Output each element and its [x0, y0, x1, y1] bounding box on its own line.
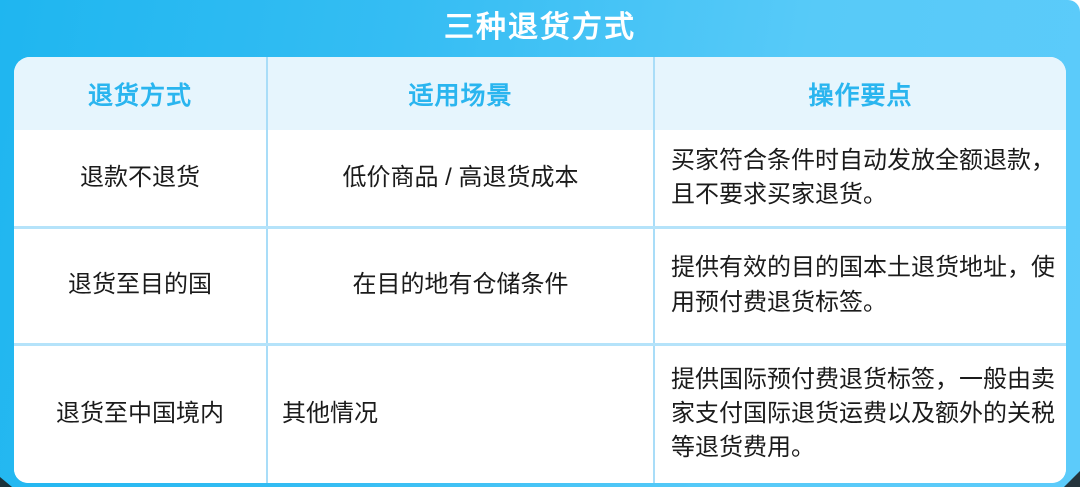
cell-points-1: 买家符合条件时自动发放全额退款，且不要求买家退货。 — [654, 130, 1066, 227]
table-row: 退货至目的国 在目的地有仓储条件 提供有效的目的国本土退货地址，使用预付费退货标… — [14, 227, 1066, 344]
cell-scenario-3: 其他情况 — [267, 344, 654, 483]
page-title: 三种退货方式 — [444, 13, 636, 45]
corner-notch-left — [0, 477, 12, 487]
cell-way-3: 退货至中国境内 — [14, 344, 267, 483]
table-row: 退货至中国境内 其他情况 提供国际预付费退货标签，一般由卖家支付国际退货运费以及… — [14, 344, 1066, 483]
cell-points-3: 提供国际预付费退货标签，一般由卖家支付国际退货运费以及额外的关税等退货费用。 — [654, 344, 1066, 483]
column-header-way: 退货方式 — [14, 57, 267, 130]
table-header-row: 退货方式 适用场景 操作要点 — [14, 57, 1066, 130]
cell-scenario-1: 低价商品 / 高退货成本 — [267, 130, 654, 227]
cell-points-2: 提供有效的目的国本土退货地址，使用预付费退货标签。 — [654, 227, 1066, 344]
return-methods-table-card: 退货方式 适用场景 操作要点 退款不退货 低价商品 / 高退货成本 买家符合条件… — [14, 57, 1066, 483]
return-methods-infographic: 三种退货方式 退货方式 适用场景 操作要点 退款不退货 低价商品 / 高退货成本… — [0, 0, 1080, 487]
cell-way-1: 退款不退货 — [14, 130, 267, 227]
table-body: 退款不退货 低价商品 / 高退货成本 买家符合条件时自动发放全额退款，且不要求买… — [14, 130, 1066, 483]
column-header-points: 操作要点 — [654, 57, 1066, 130]
table-row: 退款不退货 低价商品 / 高退货成本 买家符合条件时自动发放全额退款，且不要求买… — [14, 130, 1066, 227]
column-header-scenario: 适用场景 — [267, 57, 654, 130]
title-banner: 三种退货方式 — [0, 0, 1080, 57]
table-header: 退货方式 适用场景 操作要点 — [14, 57, 1066, 130]
cell-scenario-2: 在目的地有仓储条件 — [267, 227, 654, 344]
corner-notch-right — [1064, 471, 1080, 487]
cell-way-2: 退货至目的国 — [14, 227, 267, 344]
return-methods-table: 退货方式 适用场景 操作要点 退款不退货 低价商品 / 高退货成本 买家符合条件… — [14, 57, 1066, 483]
